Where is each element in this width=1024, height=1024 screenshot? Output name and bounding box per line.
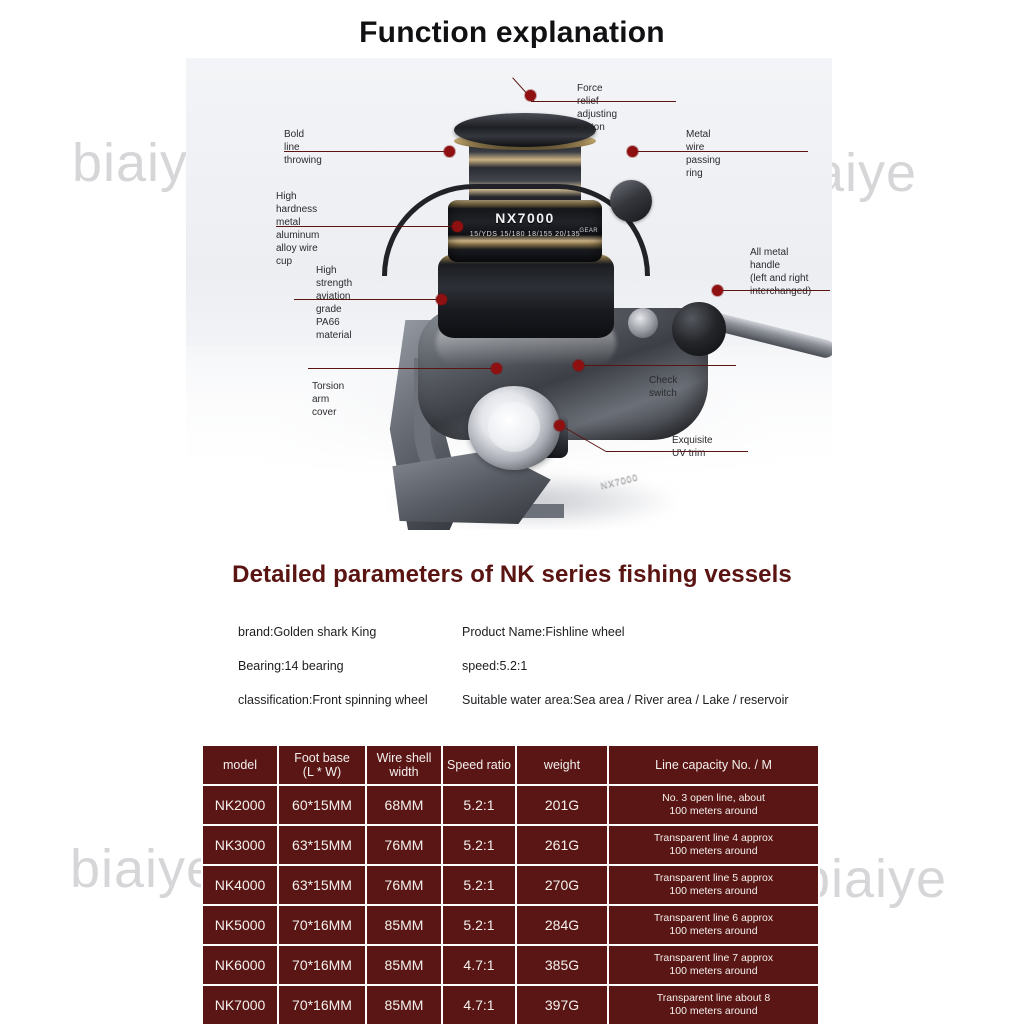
parameters-section-title: Detailed parameters of NK series fishing… <box>0 561 1024 589</box>
cell-wire-shell: 85MM <box>367 986 441 1024</box>
line-roller <box>610 180 652 222</box>
callout-dot <box>452 221 463 232</box>
callout-leader-line <box>582 365 736 366</box>
table-header-row: model Foot base (L * W) Wire shell width… <box>203 746 818 784</box>
callout-leader-line <box>638 151 808 152</box>
spool-lip <box>454 113 596 147</box>
callout-dot <box>491 363 502 374</box>
cell-weight: 261G <box>517 826 607 864</box>
callout-leader-line <box>276 226 458 227</box>
callout-dot <box>525 90 536 101</box>
cell-line-capacity: No. 3 open line, about 100 meters around <box>609 786 818 824</box>
cell-model: NK5000 <box>203 906 277 944</box>
product-photo: NX7000 15/YDS 15/180 18/155 20/135 GEAR … <box>186 58 832 530</box>
callout-label: Bold line throwing <box>284 128 322 167</box>
callout-leader-line <box>531 101 676 102</box>
cell-weight: 270G <box>517 866 607 904</box>
cell-foot-base: 63*15MM <box>279 826 365 864</box>
cell-wire-shell: 76MM <box>367 866 441 904</box>
watermark: biaiye <box>800 848 947 910</box>
spec-speed: speed:5.2:1 <box>462 659 527 673</box>
cell-line-capacity: Transparent line 5 approx 100 meters aro… <box>609 866 818 904</box>
column-header-foot-base: Foot base (L * W) <box>279 746 365 784</box>
callout-dot <box>627 146 638 157</box>
callout-label: Check switch <box>649 374 677 400</box>
cell-wire-shell: 68MM <box>367 786 441 824</box>
reel-handle-knob <box>672 302 726 356</box>
table-row: NK4000 63*15MM 76MM 5.2:1 270G Transpare… <box>203 866 818 904</box>
callout-leader-line <box>284 151 450 152</box>
cell-line-capacity: Transparent line 4 approx 100 meters aro… <box>609 826 818 864</box>
reel-handle-hub <box>628 308 658 338</box>
cell-model: NK4000 <box>203 866 277 904</box>
table-row: NK6000 70*16MM 85MM 4.7:1 385G Transpare… <box>203 946 818 984</box>
callout-dot <box>444 146 455 157</box>
cell-foot-base: 63*15MM <box>279 866 365 904</box>
table-row: NK3000 63*15MM 76MM 5.2:1 261G Transpare… <box>203 826 818 864</box>
cell-weight: 397G <box>517 986 607 1024</box>
cell-speed-ratio: 5.2:1 <box>443 826 515 864</box>
spec-brand: brand:Golden shark King <box>238 625 376 639</box>
cell-line-capacity: Transparent line 7 approx 100 meters aro… <box>609 946 818 984</box>
cell-foot-base: 60*15MM <box>279 786 365 824</box>
cell-speed-ratio: 5.2:1 <box>443 786 515 824</box>
cell-speed-ratio: 4.7:1 <box>443 986 515 1024</box>
callout-leader-line <box>722 290 830 291</box>
cell-weight: 201G <box>517 786 607 824</box>
spec-suitable-water-area: Suitable water area:Sea area / River are… <box>462 693 789 707</box>
column-header-line-capacity: Line capacity No. / M <box>609 746 818 784</box>
cell-model: NK7000 <box>203 986 277 1024</box>
cell-speed-ratio: 5.2:1 <box>443 906 515 944</box>
spinning-reel-illustration: NX7000 15/YDS 15/180 18/155 20/135 GEAR … <box>186 58 832 530</box>
cell-weight: 385G <box>517 946 607 984</box>
column-header-speed-ratio: Speed ratio <box>443 746 515 784</box>
callout-label: High strength aviation grade PA66 materi… <box>316 264 352 342</box>
spec-row: brand:Golden shark King Product Name:Fis… <box>238 625 838 659</box>
spec-bearing: Bearing:14 bearing <box>238 659 344 673</box>
callout-leader-line <box>308 368 498 369</box>
table-row: NK5000 70*16MM 85MM 5.2:1 284G Transpare… <box>203 906 818 944</box>
callout-dot <box>436 294 447 305</box>
cell-foot-base: 70*16MM <box>279 906 365 944</box>
callout-label: High hardness metal aluminum alloy wire … <box>276 190 319 268</box>
cell-wire-shell: 76MM <box>367 826 441 864</box>
product-detail-page: Function explanation Detailed parameters… <box>0 0 1024 1024</box>
specs-list: brand:Golden shark King Product Name:Fis… <box>238 625 838 727</box>
callout-label: Torsion arm cover <box>312 380 344 419</box>
cell-speed-ratio: 4.7:1 <box>443 946 515 984</box>
callout-dot <box>573 360 584 371</box>
parameters-table: model Foot base (L * W) Wire shell width… <box>201 744 820 1024</box>
torsion-arm-cover-inner <box>488 402 540 452</box>
cell-speed-ratio: 5.2:1 <box>443 866 515 904</box>
cell-model: NK6000 <box>203 946 277 984</box>
callout-leader-line <box>606 451 748 452</box>
cell-line-capacity: Transparent line about 8 100 meters arou… <box>609 986 818 1024</box>
table-row: NK2000 60*15MM 68MM 5.2:1 201G No. 3 ope… <box>203 786 818 824</box>
column-header-model: model <box>203 746 277 784</box>
spec-classification: classification:Front spinning wheel <box>238 693 428 707</box>
table-row: NK7000 70*16MM 85MM 4.7:1 397G Transpare… <box>203 986 818 1024</box>
cell-wire-shell: 85MM <box>367 906 441 944</box>
cell-model: NK2000 <box>203 786 277 824</box>
spec-product-name: Product Name:Fishline wheel <box>462 625 625 639</box>
callout-dot <box>712 285 723 296</box>
cell-foot-base: 70*16MM <box>279 946 365 984</box>
spec-row: Bearing:14 bearing speed:5.2:1 <box>238 659 838 693</box>
callout-dot <box>554 420 565 431</box>
cell-model: NK3000 <box>203 826 277 864</box>
page-title: Function explanation <box>0 16 1024 50</box>
spec-row: classification:Front spinning wheel Suit… <box>238 693 838 727</box>
cell-wire-shell: 85MM <box>367 946 441 984</box>
callout-leader-line <box>294 299 446 300</box>
column-header-weight: weight <box>517 746 607 784</box>
cell-weight: 284G <box>517 906 607 944</box>
callout-label: Metal wire passing ring <box>686 128 720 180</box>
cell-foot-base: 70*16MM <box>279 986 365 1024</box>
watermark: biaiye <box>70 838 217 900</box>
callout-label: Force relief adjusting button <box>577 82 617 134</box>
column-header-wire-shell: Wire shell width <box>367 746 441 784</box>
cell-line-capacity: Transparent line 6 approx 100 meters aro… <box>609 906 818 944</box>
callout-label: Exquisite UV trim <box>672 434 713 460</box>
